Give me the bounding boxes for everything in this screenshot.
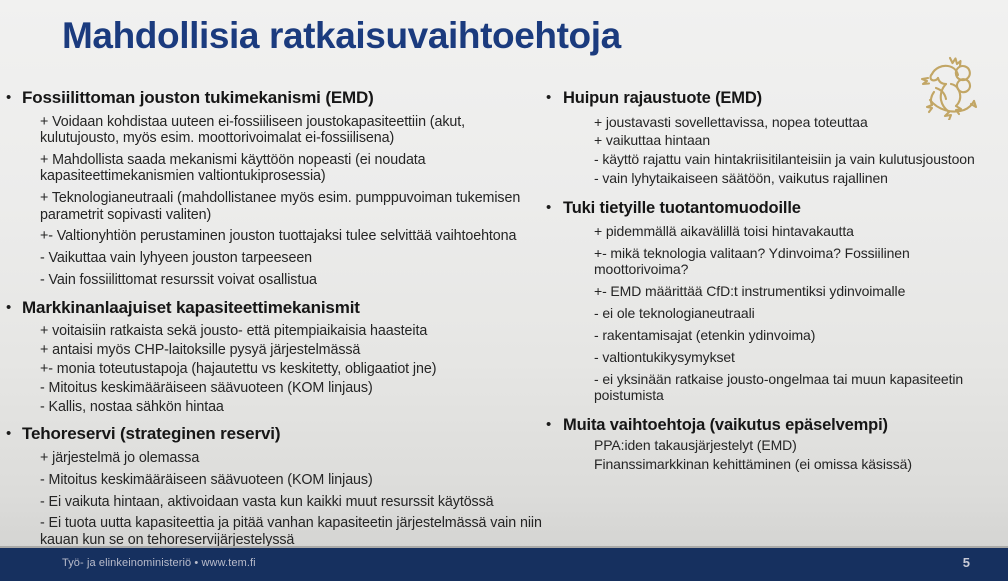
bullet-icon: • — [546, 88, 563, 108]
list-item: + antaisi myös CHP-laitoksille pysyä jär… — [40, 342, 546, 358]
section-heading: Fossiilittoman jouston tukimekanismi (EM… — [22, 88, 374, 108]
section-heading-row: • Markkinanlaajuiset kapasiteettimekanis… — [6, 298, 546, 318]
section-heading-row: • Tehoreservi (strateginen reservi) — [6, 424, 546, 444]
list-item: +- EMD määrittää CfD:t instrumentiksi yd… — [594, 283, 998, 299]
section-heading: Tehoreservi (strateginen reservi) — [22, 424, 280, 444]
list-item: - valtiontukikysymykset — [594, 349, 998, 365]
list-item: + Mahdollista saada mekanismi käyttöön n… — [40, 152, 546, 185]
list-item: - rakentamisajat (etenkin ydinvoima) — [594, 327, 998, 343]
section-tuki-tietyille-tuotantomuodoille: • Tuki tietyille tuotantomuodoille + pid… — [546, 198, 998, 404]
section-muita-vaihtoehtoja: • Muita vaihtoehtoja (vaikutus epäselvem… — [546, 415, 998, 473]
list-item: + pidemmällä aikavälillä toisi hintavaka… — [594, 223, 998, 239]
list-item: - ei ole teknologianeutraali — [594, 305, 998, 321]
list-item: + vaikuttaa hintaan — [594, 132, 998, 148]
bullet-icon: • — [6, 424, 22, 444]
list-item: + Voidaan kohdistaa uuteen ei-fossiilise… — [40, 114, 546, 147]
list-item: PPA:iden takausjärjestelyt (EMD) — [594, 437, 998, 453]
footer-organisation-text: Työ- ja elinkeinoministeriö • www.tem.fi — [62, 557, 256, 569]
list-item: - Ei vaikuta hintaan, aktivoidaan vasta … — [40, 494, 546, 510]
section-heading-row: • Fossiilittoman jouston tukimekanismi (… — [6, 88, 546, 108]
section-fossiiliton-jousto: • Fossiilittoman jouston tukimekanismi (… — [6, 88, 546, 289]
section-heading: Markkinanlaajuiset kapasiteettimekanismi… — [22, 298, 360, 318]
section-heading: Huipun rajaustuote (EMD) — [563, 88, 762, 108]
list-item: - Mitoitus keskimääräiseen säävuoteen (K… — [40, 380, 546, 396]
list-item: - vain lyhytaikaiseen säätöön, vaikutus … — [594, 170, 998, 186]
list-item: + voitaisiin ratkaista sekä jousto- että… — [40, 323, 546, 339]
page-title: Mahdollisia ratkaisuvaihtoehtoja — [62, 15, 621, 57]
list-item: - Vaikuttaa vain lyhyeen jouston tarpees… — [40, 250, 546, 266]
section-heading: Tuki tietyille tuotantomuodoille — [563, 198, 801, 218]
list-item: + Teknologianeutraali (mahdollistanee my… — [40, 190, 546, 223]
section-heading: Muita vaihtoehtoja (vaikutus epäselvempi… — [563, 415, 888, 435]
list-item: + joustavasti sovellettavissa, nopea tot… — [594, 114, 998, 130]
slide: Mahdollisia ratkaisuvaihtoehtoja — [0, 0, 1008, 581]
list-item: - Mitoitus keskimääräiseen säävuoteen (K… — [40, 472, 546, 488]
list-item: +- Valtionyhtiön perustaminen jouston tu… — [40, 228, 546, 244]
list-item: +- monia toteutustapoja (hajautettu vs k… — [40, 361, 546, 377]
list-item: - Vain fossiilittomat resurssit voivat o… — [40, 272, 546, 288]
bullet-icon: • — [6, 88, 22, 108]
bullet-icon: • — [546, 415, 563, 435]
right-column: • Huipun rajaustuote (EMD) + joustavasti… — [546, 88, 998, 484]
page-number: 5 — [963, 555, 970, 570]
section-huipun-rajaustuote: • Huipun rajaustuote (EMD) + joustavasti… — [546, 88, 998, 187]
list-item: - käyttö rajattu vain hintakriisitilante… — [594, 151, 998, 167]
list-item: - Ei tuota uutta kapasiteettia ja pitää … — [40, 515, 546, 548]
list-item: Finanssimarkkinan kehittäminen (ei omiss… — [594, 456, 998, 472]
section-heading-row: • Tuki tietyille tuotantomuodoille — [546, 198, 998, 218]
bullet-icon: • — [6, 298, 22, 318]
section-heading-row: • Muita vaihtoehtoja (vaikutus epäselvem… — [546, 415, 998, 435]
left-column: • Fossiilittoman jouston tukimekanismi (… — [6, 88, 546, 579]
bullet-icon: • — [546, 198, 563, 218]
list-item: - ei yksinään ratkaise jousto-ongelmaa t… — [594, 371, 998, 404]
section-heading-row: • Huipun rajaustuote (EMD) — [546, 88, 998, 108]
footer-bar: Työ- ja elinkeinoministeriö • www.tem.fi… — [0, 546, 1008, 581]
section-markkinanlaajuiset-kapasiteettimekanismit: • Markkinanlaajuiset kapasiteettimekanis… — [6, 298, 546, 416]
list-item: - Kallis, nostaa sähkön hintaa — [40, 399, 546, 415]
list-item: +- mikä teknologia valitaan? Ydinvoima? … — [594, 245, 998, 278]
list-item: + järjestelmä jo olemassa — [40, 450, 546, 466]
